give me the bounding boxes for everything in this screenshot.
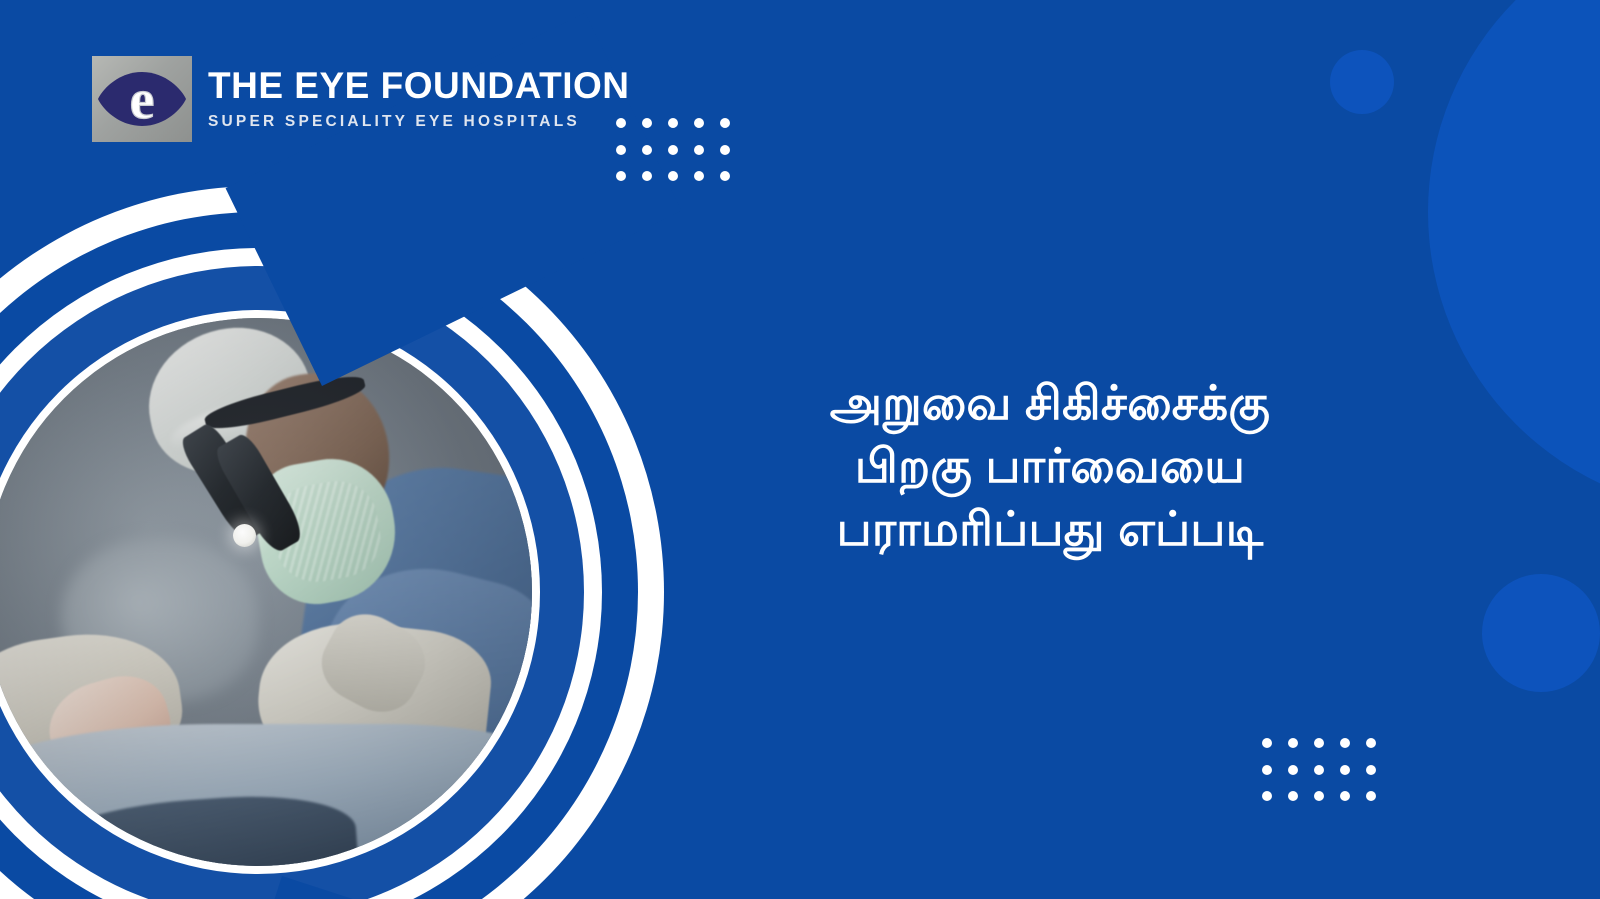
decorative-circle-mid-right xyxy=(1482,574,1600,692)
dot xyxy=(1262,791,1272,801)
dot xyxy=(1366,791,1376,801)
dot xyxy=(1288,765,1298,775)
dot xyxy=(694,145,704,155)
dot xyxy=(1288,738,1298,748)
headline: அறுவை சிகிச்சைக்கு பிறகு பார்வையை பராமரி… xyxy=(700,372,1400,561)
dot xyxy=(642,171,652,181)
promo-banner: e THE EYE FOUNDATION SUPER SPECIALITY EY… xyxy=(0,0,1600,899)
brand-logo[interactable]: e THE EYE FOUNDATION SUPER SPECIALITY EY… xyxy=(92,56,630,142)
dot-grid-bottom xyxy=(1262,738,1392,818)
decorative-circle-large-top-right xyxy=(1428,0,1600,512)
logo-wordmark: THE EYE FOUNDATION SUPER SPECIALITY EYE … xyxy=(208,67,630,131)
surgery-photo xyxy=(0,318,532,866)
circular-photo-frame xyxy=(0,186,664,899)
decorative-circle-small-top-right xyxy=(1330,50,1394,114)
dot xyxy=(1340,765,1350,775)
dot-grid-top xyxy=(616,118,746,198)
dot xyxy=(720,118,730,128)
dot xyxy=(694,118,704,128)
dot xyxy=(668,171,678,181)
dot xyxy=(668,145,678,155)
dot xyxy=(720,171,730,181)
eye-logo-letter: e xyxy=(130,69,155,130)
dot xyxy=(1340,738,1350,748)
dot xyxy=(616,118,626,128)
dot xyxy=(1262,765,1272,775)
dot xyxy=(1366,738,1376,748)
dot xyxy=(1288,791,1298,801)
headline-line-1: அறுவை சிகிச்சைக்கு xyxy=(700,372,1400,435)
dot xyxy=(720,145,730,155)
dot xyxy=(1366,765,1376,775)
dot xyxy=(1314,791,1324,801)
headline-line-3: பராமரிப்பது எப்படி xyxy=(700,498,1400,561)
headline-line-2: பிறகு பார்வையை xyxy=(700,435,1400,498)
dot xyxy=(616,145,626,155)
logo-title: THE EYE FOUNDATION xyxy=(208,67,630,106)
surgery-scene-illustration xyxy=(0,318,532,866)
dot xyxy=(1314,765,1324,775)
dot xyxy=(1314,738,1324,748)
dot xyxy=(668,118,678,128)
logo-tagline: SUPER SPECIALITY EYE HOSPITALS xyxy=(208,113,630,131)
dot xyxy=(694,171,704,181)
dot xyxy=(1340,791,1350,801)
eye-logo-icon: e xyxy=(92,56,192,142)
dot xyxy=(616,171,626,181)
scene-color-grade xyxy=(0,318,532,866)
dot xyxy=(642,145,652,155)
dot xyxy=(1262,738,1272,748)
dot xyxy=(642,118,652,128)
